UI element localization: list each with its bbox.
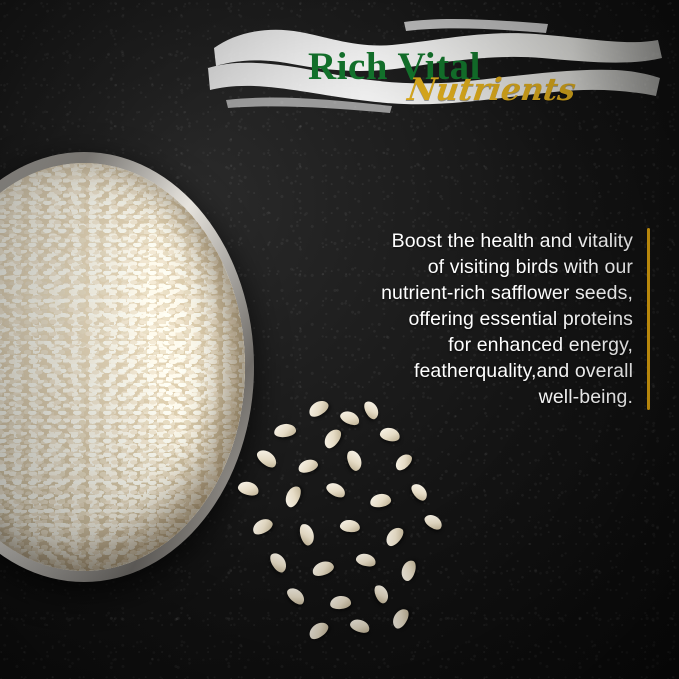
description-line: for enhanced energy, bbox=[368, 332, 633, 358]
description-line: nutrient-rich safflower seeds, bbox=[368, 280, 633, 306]
description-line: well-being. bbox=[368, 384, 633, 410]
brand-name-secondary: Nutrients bbox=[405, 72, 577, 108]
description-line: offering essential proteins bbox=[368, 306, 633, 332]
brand-logo: Rich Vital Nutrients bbox=[196, 14, 666, 119]
spill-alt-text: safflower seeds spilled on the surface bbox=[212, 398, 213, 399]
description-text: Boost the health and vitality of visitin… bbox=[368, 228, 647, 410]
product-banner: Rich Vital Nutrients metal bowl filled w… bbox=[0, 0, 679, 679]
accent-rule bbox=[647, 228, 650, 410]
description-line: of visiting birds with our bbox=[368, 254, 633, 280]
description-line: Boost the health and vitality bbox=[368, 228, 633, 254]
description-block: Boost the health and vitality of visitin… bbox=[368, 228, 650, 410]
description-line: featherquality,and overall bbox=[368, 358, 633, 384]
bowl-interior bbox=[0, 163, 245, 571]
spilled-seeds-group: safflower seeds spilled on the surface bbox=[212, 398, 502, 668]
